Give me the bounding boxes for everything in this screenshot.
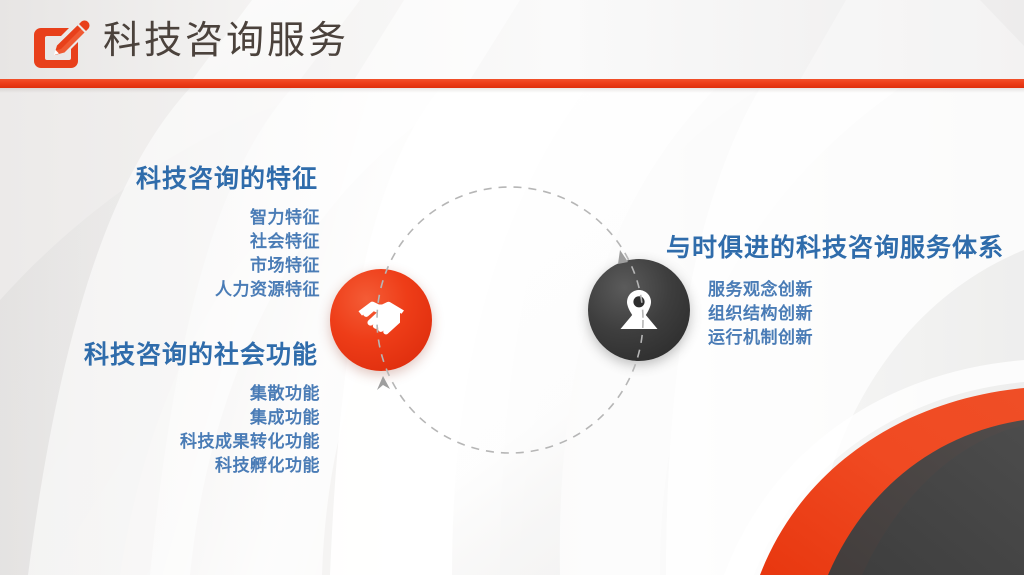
block-features-heading: 科技咨询的特征: [0, 163, 320, 195]
block-social-functions: 科技咨询的社会功能 集散功能 集成功能 科技成果转化功能 科技孵化功能: [0, 339, 320, 494]
arrowhead-to-red-node: [377, 376, 390, 390]
list-item: 科技孵化功能: [0, 454, 320, 478]
list-item: 组织结构创新: [708, 302, 1014, 326]
list-item: 科技成果转化功能: [0, 430, 320, 454]
block-social-functions-heading: 科技咨询的社会功能: [0, 339, 320, 371]
block-features-items: 智力特征 社会特征 市场特征 人力资源特征: [0, 206, 320, 302]
block-service-system-items: 服务观念创新 组织结构创新 运行机制创新: [666, 278, 1014, 350]
header-accent-bar-shadow: [0, 88, 1024, 93]
slide-header: 科技咨询服务: [0, 0, 1024, 78]
block-service-system-heading: 与时俱进的科技咨询服务体系: [666, 232, 1014, 264]
list-item: 服务观念创新: [708, 278, 1014, 302]
list-item: 智力特征: [0, 206, 320, 230]
block-features: 科技咨询的特征 智力特征 社会特征 市场特征 人力资源特征: [0, 163, 320, 318]
dashed-connector-circle: [377, 187, 643, 453]
block-social-functions-items: 集散功能 集成功能 科技成果转化功能 科技孵化功能: [0, 382, 320, 478]
block-service-system: 与时俱进的科技咨询服务体系 服务观念创新 组织结构创新 运行机制创新: [666, 232, 1014, 366]
header-accent-bar: [0, 79, 1024, 88]
list-item: 集散功能: [0, 382, 320, 406]
list-item: 运行机制创新: [708, 326, 1014, 350]
list-item: 市场特征: [0, 254, 320, 278]
arrowhead-to-dark-node: [608, 250, 628, 266]
list-item: 人力资源特征: [0, 278, 320, 302]
slide-canvas: 科技咨询服务 科技咨询的特征 智力特征 社会特征 市场特征 人力资源特征 科技咨…: [0, 0, 1024, 575]
page-title: 科技咨询服务: [103, 14, 349, 68]
edit-note-icon: [33, 19, 91, 71]
list-item: 集成功能: [0, 406, 320, 430]
list-item: 社会特征: [0, 230, 320, 254]
